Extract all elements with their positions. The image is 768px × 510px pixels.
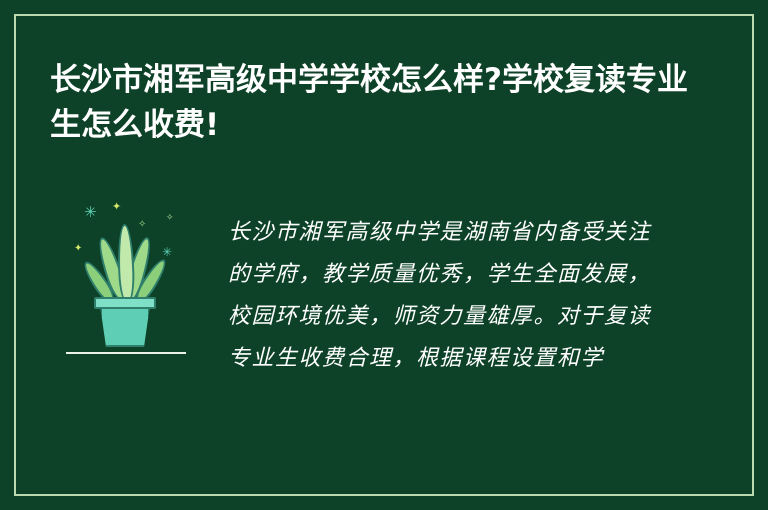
flower-pot-rim-icon: [94, 297, 156, 309]
sparkle-icon: ✦: [112, 200, 121, 213]
poster-card: 长沙市湘军高级中学学校怎么样?学校复读专业生怎么收费! ✳ ✦ ✧ ✦ ✳ ✧ …: [0, 0, 768, 510]
sparkle-icon: ✳: [84, 206, 97, 219]
sparkle-icon: ✳: [162, 246, 172, 259]
potted-plant-illustration: ✳ ✦ ✧ ✦ ✳ ✧: [66, 200, 202, 370]
flower-pot-icon: [100, 305, 150, 347]
sparkle-icon: ✧: [138, 218, 146, 231]
body-paragraph: 长沙市湘军高级中学是湖南省内备受关注的学府，教学质量优秀，学生全面发展，校园环境…: [228, 212, 666, 380]
page-title: 长沙市湘军高级中学学校怎么样?学校复读专业生怎么收费!: [50, 58, 690, 148]
sparkle-icon: ✧: [166, 212, 174, 225]
sparkle-icon: ✦: [74, 242, 82, 255]
ground-line: [66, 352, 186, 354]
